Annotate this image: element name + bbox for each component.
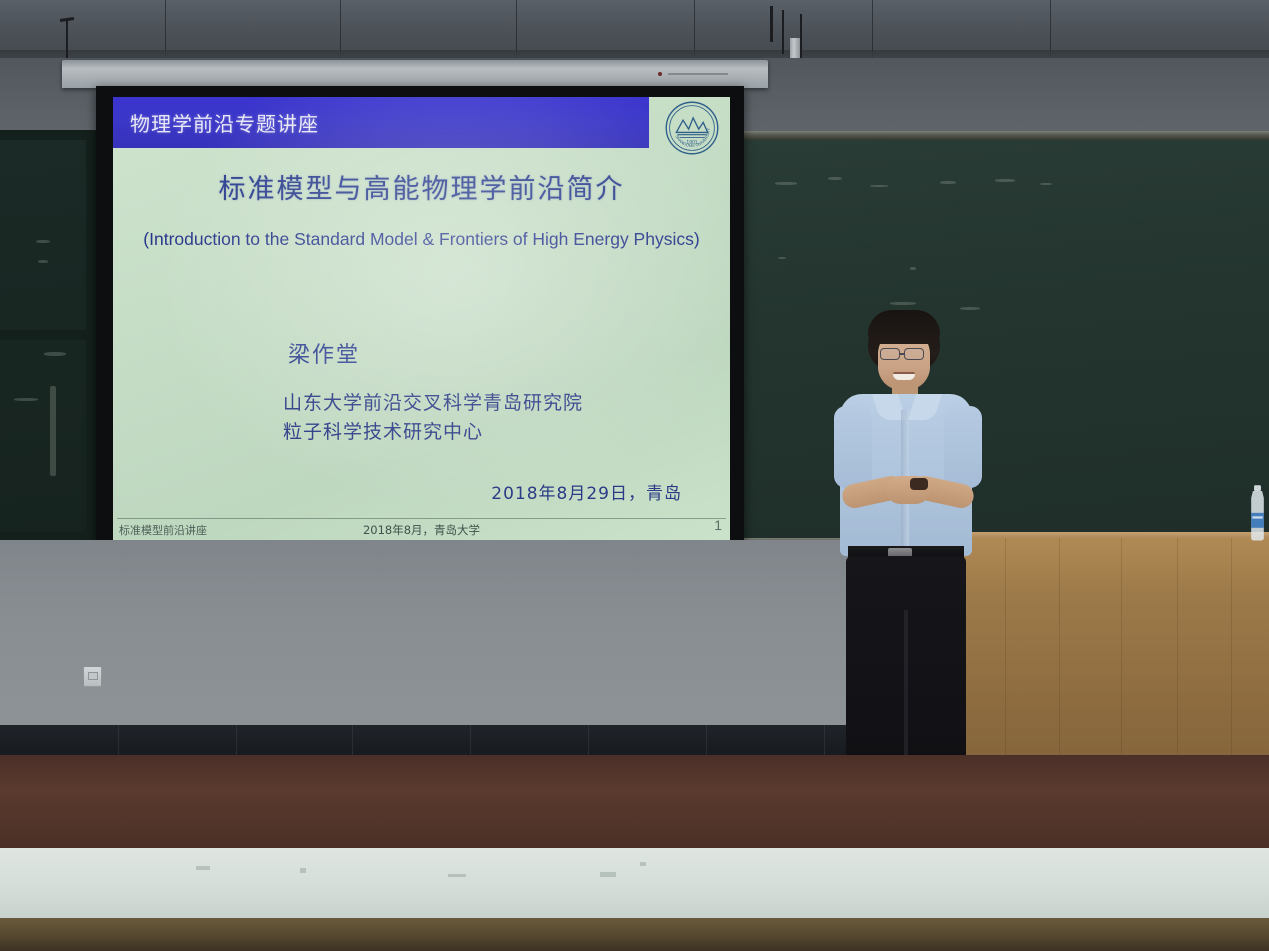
presentation-clicker[interactable]	[910, 478, 928, 490]
presentation-slide[interactable]: 物理学前沿专题讲座 1901 SHANDONG UNIVERSITY 标准模型与…	[113, 97, 730, 540]
blackboard-top-rail	[730, 131, 1269, 140]
ceiling-cable	[800, 14, 802, 64]
slide-footer-divider	[117, 518, 726, 519]
shandong-university-logo-icon: 1901 SHANDONG UNIVERSITY	[664, 100, 720, 156]
glasses-icon	[880, 348, 900, 360]
slide-page-number: 1	[714, 517, 722, 533]
slide-title-cn: 标准模型与高能物理学前沿简介	[113, 167, 730, 206]
housing-label	[658, 69, 728, 79]
sleeve	[944, 406, 982, 488]
ceiling-cable	[782, 10, 784, 54]
wall-dado-band	[0, 725, 963, 757]
slide-footer-center: 2018年8月，青岛大学	[113, 522, 730, 538]
stage-riser	[0, 848, 1269, 920]
slide-speaker-name: 梁作堂	[288, 337, 360, 369]
screen-housing[interactable]	[62, 60, 768, 88]
floor	[0, 918, 1269, 951]
lecture-hall-scene: 物理学前沿专题讲座 1901 SHANDONG UNIVERSITY 标准模型与…	[0, 0, 1269, 951]
water-bottle-icon[interactable]	[1246, 484, 1269, 544]
light-switch[interactable]	[83, 666, 102, 687]
slide-header-title: 物理学前沿专题讲座	[130, 108, 319, 137]
slide-date-place: 2018年8月29日，青岛	[491, 479, 682, 504]
blackboard-left	[0, 140, 100, 540]
glasses-icon	[904, 348, 924, 360]
glasses-bridge	[900, 353, 905, 355]
slide-affiliation: 山东大学前沿交叉科学青岛研究院 粒子科学技术研究中心	[283, 389, 583, 447]
affiliation-line-2: 粒子科学技术研究中心	[283, 418, 583, 447]
affiliation-line-1: 山东大学前沿交叉科学青岛研究院	[283, 389, 583, 418]
mouth	[893, 372, 915, 380]
blackboard-frame	[0, 330, 100, 340]
lower-wall	[0, 540, 963, 740]
blackboard-frame	[0, 130, 100, 140]
ceiling	[0, 0, 1269, 62]
stage-face	[0, 755, 1269, 853]
hair-fringe	[868, 310, 940, 344]
ceiling-cable	[770, 6, 773, 42]
blackboard-right	[730, 137, 1269, 542]
sleeve	[834, 406, 872, 488]
slide-title-en: (Introduction to the Standard Model & Fr…	[113, 229, 730, 250]
